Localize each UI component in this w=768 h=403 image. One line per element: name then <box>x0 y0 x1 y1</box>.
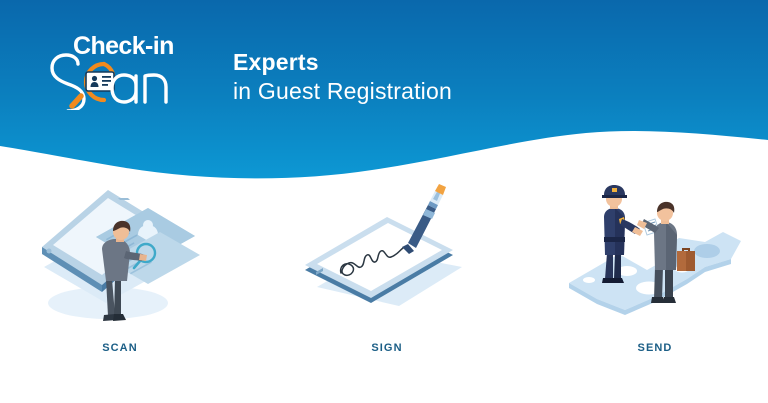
logo-letter-a <box>112 75 136 102</box>
send-officer-cap-brim <box>602 195 627 198</box>
tagline-line-2: in Guest Registration <box>233 76 452 106</box>
officer-businessman-map-illustration <box>540 175 768 340</box>
send-business-shoe-2 <box>663 297 676 303</box>
logo-id-card-avatar-head <box>92 76 97 81</box>
header-content: Check-in <box>0 0 768 160</box>
phone-scan-person-magnifier-illustration <box>5 175 235 340</box>
send-officer-shoe-2 <box>612 278 624 283</box>
tagline-line-1: Experts <box>233 48 452 76</box>
tablet-signature-pen-illustration <box>272 175 502 340</box>
step-label-scan: SCAN <box>5 342 235 354</box>
scan-phone-speaker <box>118 198 130 200</box>
logo-check-in-text: Check-in <box>73 32 174 60</box>
send-map-lake-4 <box>694 244 720 258</box>
promo-banner: Check-in <box>0 0 768 403</box>
step-label-sign: SIGN <box>272 342 502 354</box>
scan-person-hand <box>139 254 147 261</box>
send-briefcase-shade <box>686 251 695 271</box>
logo-letter-n <box>145 75 166 102</box>
send-officer-cap-badge <box>612 188 617 192</box>
step-send[interactable]: SEND <box>540 175 768 375</box>
step-label-send: SEND <box>540 342 768 354</box>
steps-row: SCAN <box>0 175 768 375</box>
send-officer-leg-2 <box>614 253 621 279</box>
tagline: Experts in Guest Registration <box>233 48 452 106</box>
scan-phone-home-button <box>47 249 52 254</box>
send-officer-belt <box>604 237 625 242</box>
send-business-leg-1 <box>654 267 663 299</box>
logo-magnifier-handle <box>72 96 81 106</box>
send-business-leg-2 <box>665 267 673 299</box>
logo-id-card-line-2 <box>102 80 111 82</box>
logo-id-card-line-3 <box>102 84 108 86</box>
step-sign[interactable]: SIGN <box>272 175 502 375</box>
send-officer-leg-1 <box>605 253 613 279</box>
send-map-lake-5 <box>583 277 595 283</box>
logo-id-card-line-1 <box>102 76 111 78</box>
send-business-shoe-1 <box>651 297 665 303</box>
step-scan[interactable]: SCAN <box>5 175 235 375</box>
scan-person-torso <box>102 239 130 281</box>
brand-logo[interactable]: Check-in <box>44 28 204 110</box>
scan-person-leg-2 <box>114 279 121 315</box>
